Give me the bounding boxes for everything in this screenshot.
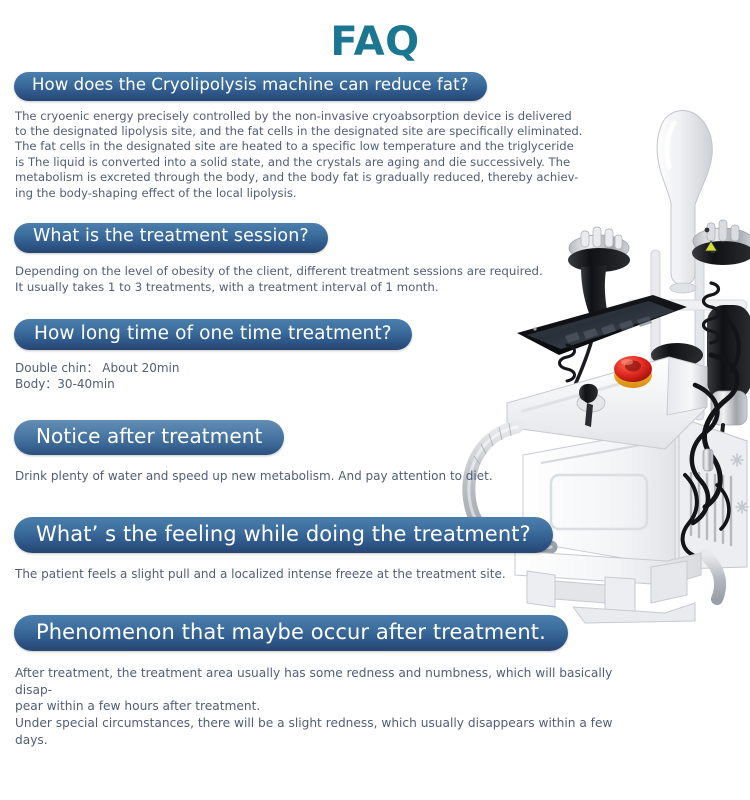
faq-list: How does the Cryolipolysis machine can r… (0, 72, 750, 748)
faq-answer-text: Double chin： About 20min Body：30-40min (15, 361, 615, 392)
faq-item: Notice after treatment Drink plenty of w… (0, 420, 750, 485)
faq-answer-text: Depending on the level of obesity of the… (15, 264, 615, 295)
faq-item: Phenomenon that maybe occur after treatm… (0, 615, 750, 748)
faq-answer-text: The patient feels a slight pull and a lo… (15, 567, 615, 583)
faq-item: What’ s the feeling while doing the trea… (0, 517, 750, 583)
faq-item: How does the Cryolipolysis machine can r… (0, 72, 750, 201)
faq-answer-text: The cryoenic energy precisely controlled… (15, 109, 600, 201)
faq-item: How long time of one time treatment? Dou… (0, 319, 750, 392)
faq-question-banner[interactable]: Phenomenon that maybe occur after treatm… (14, 615, 568, 651)
faq-question-banner[interactable]: How does the Cryolipolysis machine can r… (14, 72, 487, 101)
faq-answer-text: Drink plenty of water and speed up new m… (15, 469, 615, 485)
faq-question-banner[interactable]: What’ s the feeling while doing the trea… (14, 517, 553, 553)
faq-question-banner[interactable]: How long time of one time treatment? (14, 319, 412, 350)
faq-question-banner[interactable]: What is the treatment session? (14, 223, 328, 253)
page-title: FAQ (0, 22, 750, 62)
faq-question-banner[interactable]: Notice after treatment (14, 420, 284, 455)
faq-answer-text: After treatment, the treatment area usua… (15, 665, 625, 748)
faq-item: What is the treatment session? Depending… (0, 223, 750, 295)
